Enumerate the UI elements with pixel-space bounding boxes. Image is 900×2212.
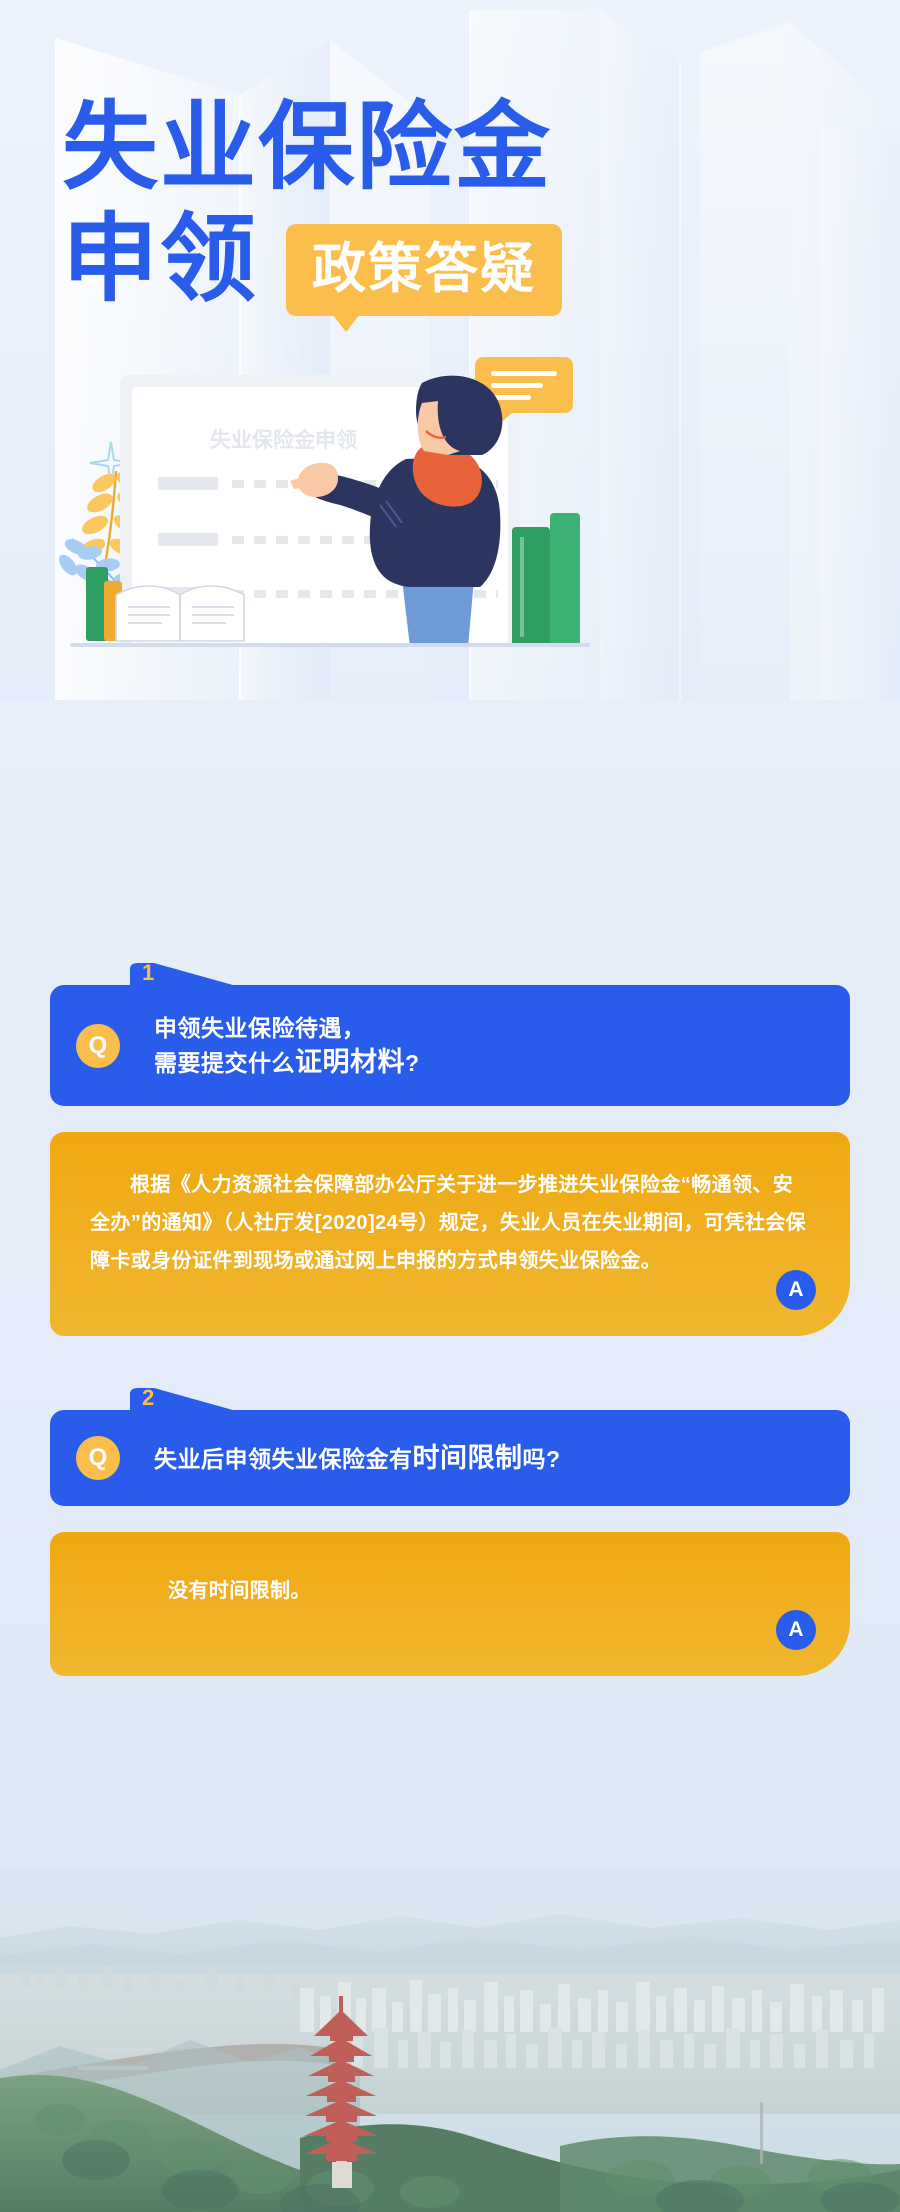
- question-text-1: 申领失业保险待遇， 需要提交什么证明材料?: [154, 1011, 420, 1080]
- screen-title-text: 失业保险金申领: [210, 428, 357, 452]
- infographic-page: 失业保险金 申领 政策答疑: [0, 0, 900, 2212]
- title-badge-wrapper: 政策答疑: [286, 224, 562, 316]
- question-number-tab-1: [120, 963, 240, 987]
- footer-cityscape-photo: [0, 1870, 900, 2212]
- question-badge-icon-1: Q: [76, 1024, 120, 1068]
- answer-text-1: 根据《人力资源社会保障部办公厅关于进一步推进失业保险金“畅通领、安全办”的通知》…: [90, 1166, 810, 1280]
- qa-section: 1 Q 申领失业保险待遇， 需要提交什么证明材料? 根据《人力资源社会保障部办公…: [0, 985, 900, 1676]
- page-title-line-2: 申领: [62, 208, 258, 312]
- page-title-line-1: 失业保险金: [62, 96, 862, 200]
- question-text-2: 失业后申领失业保险金有时间限制吗?: [154, 1441, 561, 1476]
- answer-card-1: 根据《人力资源社会保障部办公厅关于进一步推进失业保险金“畅通领、安全办”的通知》…: [50, 1132, 850, 1336]
- question-number-tab-2: [120, 1388, 240, 1412]
- question-2-part1: 失业后申领失业保险金有: [154, 1446, 413, 1472]
- question-number-2: 2: [142, 1386, 154, 1410]
- books-right-decoration: [512, 513, 580, 647]
- question-card-2[interactable]: 2 Q 失业后申领失业保险金有时间限制吗?: [50, 1410, 850, 1506]
- hero-illustration: 失业保险金申领: [50, 355, 610, 675]
- answer-badge-icon-2: A: [776, 1610, 816, 1650]
- question-1-emphasis: 证明材料: [295, 1047, 405, 1077]
- question-1-suffix: ?: [405, 1050, 420, 1076]
- question-2-suffix: 吗?: [523, 1446, 561, 1472]
- page-title-block: 失业保险金 申领 政策答疑: [62, 96, 862, 316]
- hero-section: 失业保险金 申领 政策答疑: [0, 0, 900, 700]
- answer-text-2: 没有时间限制。: [90, 1572, 810, 1610]
- question-card-1[interactable]: 1 Q 申领失业保险待遇， 需要提交什么证明材料?: [50, 985, 850, 1106]
- question-badge-icon-2: Q: [76, 1436, 120, 1480]
- question-number-1: 1: [142, 961, 154, 985]
- answer-badge-icon-1: A: [776, 1270, 816, 1310]
- question-1-part1: 申领失业保险待遇，: [154, 1015, 366, 1041]
- answer-card-2: 没有时间限制。 A: [50, 1532, 850, 1676]
- policy-qa-badge: 政策答疑: [286, 224, 562, 316]
- title-badge-tail-icon: [332, 314, 360, 332]
- question-1-part2: 需要提交什么: [154, 1050, 295, 1076]
- question-2-emphasis: 时间限制: [413, 1443, 523, 1473]
